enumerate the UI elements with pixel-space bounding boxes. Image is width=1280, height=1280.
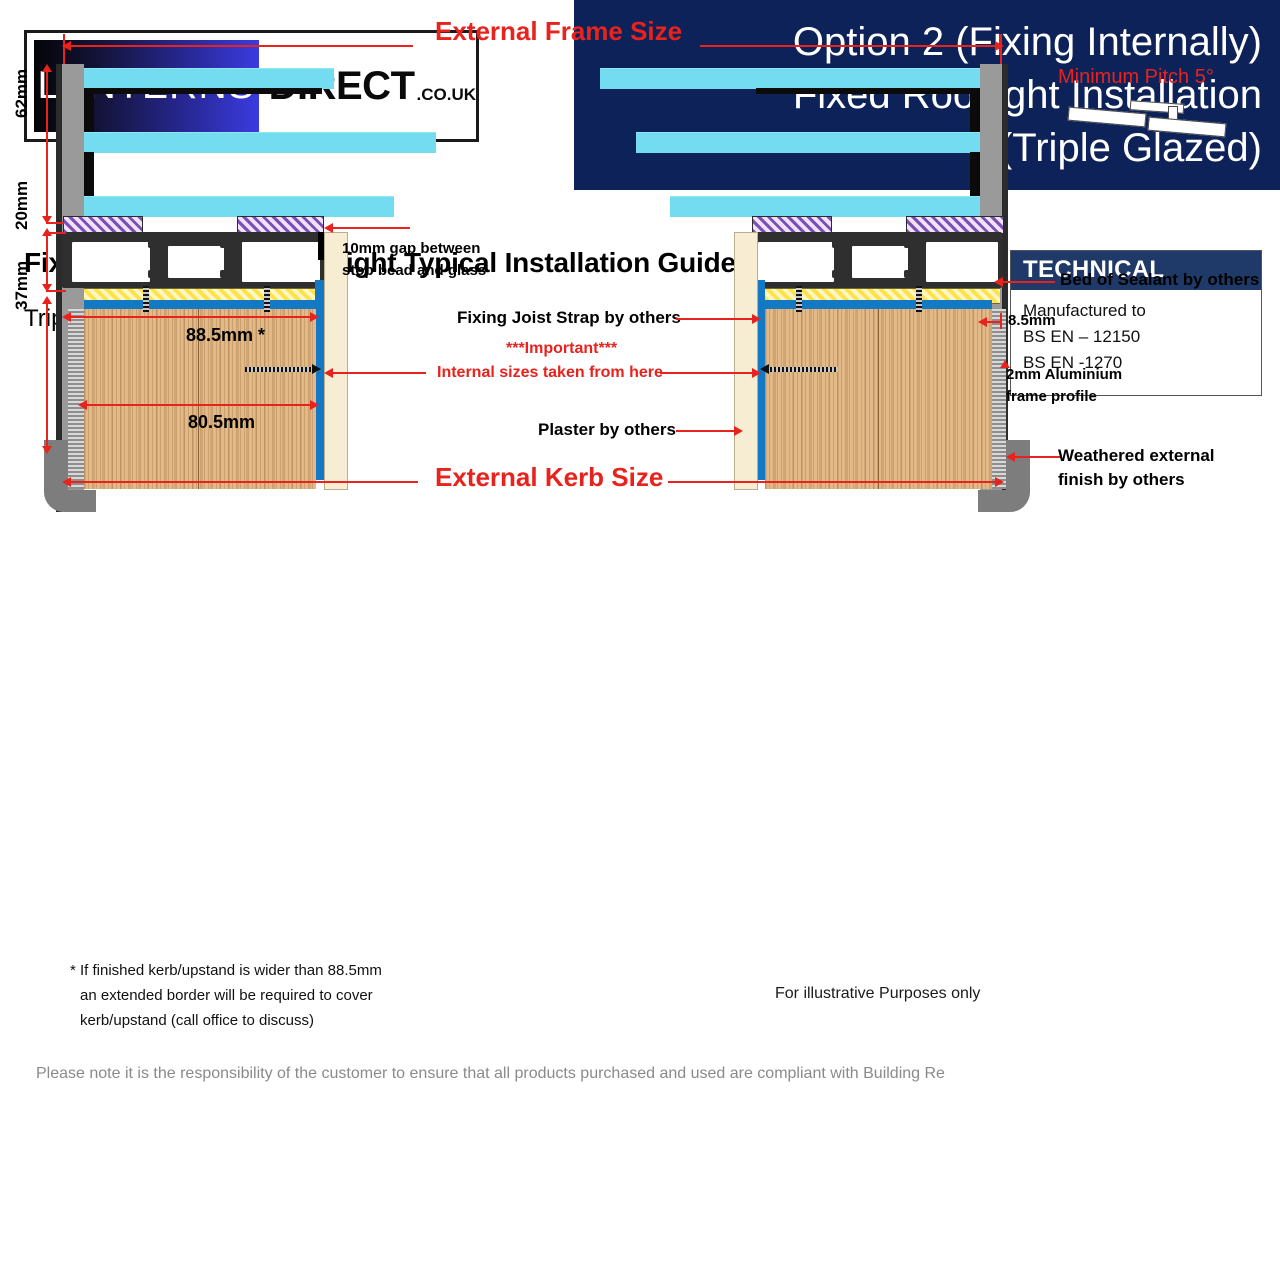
alu-chamber-inner-left	[240, 240, 322, 284]
installation-cross-section-diagram: External Frame Size	[0, 0, 1280, 560]
pitch-angle-icon	[1060, 100, 1220, 140]
dim-805-label: 80.5mm	[188, 412, 255, 433]
joist-strap-screw-tip-left	[312, 364, 321, 374]
glass-spacer-lower-right	[970, 152, 980, 196]
kerb-dim-line-left	[68, 481, 418, 483]
glass-pane-outer-left	[84, 68, 334, 89]
callout-sealant-arrow	[994, 277, 1003, 287]
callout-important-leader-left	[330, 372, 426, 374]
glass-top-seal-right	[756, 88, 980, 94]
dim-62-arrow-top	[42, 64, 52, 72]
thermal-break-lower-right-l	[220, 270, 242, 278]
glass-spacer-lower-left	[84, 152, 94, 196]
callout-important-arrow-left	[324, 368, 333, 378]
alu-chamber-centre-right	[850, 244, 910, 280]
fixing-screw-left-a	[143, 286, 149, 312]
kerb-footnote: * If finished kerb/upstand is wider than…	[70, 958, 382, 1033]
callout-sealant-label: Bed of Sealant by others	[1060, 270, 1259, 290]
callout-gap-leader	[330, 227, 410, 229]
kerb-footnote-line-2: an extended border will be required to c…	[70, 983, 382, 1008]
callout-joist-strap-leader	[676, 318, 756, 320]
glass-pane-middle-left	[84, 132, 436, 153]
callout-weathered-line1: Weathered external	[1058, 446, 1215, 466]
callout-important-line2: Internal sizes taken from here	[437, 364, 663, 382]
dim-37-arrow-top	[42, 296, 52, 304]
callout-85-tick	[1000, 313, 1002, 329]
fixing-screw-right-a	[796, 286, 802, 312]
dim-805-line	[84, 404, 316, 406]
callout-important-leader-right	[660, 372, 756, 374]
frame-dim-line-right	[700, 45, 1000, 47]
dim-37-line	[46, 300, 48, 452]
alu-chamber-outer-right	[924, 240, 1000, 284]
timber-kerb-joint-right	[878, 309, 879, 489]
callout-plaster-label: Plaster by others	[538, 420, 676, 440]
thermal-break-upper-right-r	[904, 240, 926, 248]
dim-885-arrow-right	[310, 312, 319, 322]
membrane-horizontal-left	[84, 300, 324, 309]
membrane-horizontal-right	[756, 300, 992, 309]
dim-885-label: 88.5mm *	[186, 325, 265, 346]
callout-weathered-leader	[1012, 456, 1060, 458]
callout-gap-line2: stop bead and glass	[342, 262, 486, 279]
callout-plaster-leader	[676, 430, 738, 432]
dim-37-label: 37mm	[12, 230, 32, 310]
callout-important-line1: ***Important***	[506, 340, 617, 358]
kerb-footnote-line-1: * If finished kerb/upstand is wider than…	[70, 958, 382, 983]
callout-85-label: 8.5mm	[1008, 312, 1056, 329]
external-frame-size-label: External Frame Size	[435, 16, 682, 47]
pitch-bar-lower-right	[1148, 117, 1227, 138]
dim-62-line	[46, 68, 48, 222]
callout-85-arrow	[978, 317, 987, 327]
glass-pane-middle-right	[636, 132, 980, 153]
dim-62-tick-bottom	[46, 222, 64, 224]
kerb-footnote-line-3: kerb/upstand (call office to discuss)	[70, 1008, 382, 1033]
frame-dim-arrow-right	[995, 41, 1004, 51]
dim-20-tick-top	[46, 232, 66, 234]
kerb-dim-line-right	[668, 481, 1000, 483]
glass-pane-outer-right	[600, 68, 980, 89]
callout-sealant-leader	[1000, 281, 1055, 283]
frame-dim-line-left	[68, 45, 413, 47]
weathering-grit-right	[992, 309, 1006, 489]
dim-805-arrow-right	[310, 400, 319, 410]
glass-pane-inner-left	[84, 196, 394, 217]
callout-gap-arrow	[324, 223, 333, 233]
thermal-break-lower-right-r	[904, 270, 926, 278]
thermal-break-upper-left-r	[832, 240, 852, 248]
glass-spacer-upper-left	[84, 88, 94, 132]
glass-spacer-upper-right	[970, 88, 980, 132]
thermal-break-upper-right-l	[220, 240, 242, 248]
callout-weathered-arrow	[1006, 452, 1015, 462]
callout-alu-line2: frame profile	[1006, 388, 1097, 405]
callout-gap-line1: 10mm gap between	[342, 240, 480, 257]
callout-plaster-arrow	[734, 426, 743, 436]
dim-37-arrow-bottom	[42, 446, 52, 454]
fixing-screw-right-b	[916, 286, 922, 312]
joist-strap-screw-tip-right	[760, 364, 769, 374]
kerb-dim-arrow-left	[62, 477, 71, 487]
alu-chamber-centre-left	[166, 244, 226, 280]
callout-joist-strap-label: Fixing Joist Strap by others	[457, 308, 681, 328]
weathered-finish-foot-left	[44, 490, 96, 512]
dim-20-label: 20mm	[12, 160, 32, 230]
plaster-board-right	[734, 232, 758, 490]
illustrative-note: For illustrative Purposes only	[775, 985, 980, 1003]
dim-20-line	[46, 232, 48, 290]
callout-important-arrow-right	[752, 368, 761, 378]
compliance-disclaimer: Please note it is the responsibility of …	[36, 1065, 945, 1083]
dim-885-line	[68, 316, 316, 318]
fixing-screw-left-b	[264, 286, 270, 312]
joist-strap-screw-left	[245, 367, 317, 372]
dim-805-arrow-left	[78, 400, 87, 410]
weathered-finish-foot-right	[978, 490, 1030, 512]
dim-885-arrow-left	[62, 312, 71, 322]
glass-pane-inner-right	[670, 196, 980, 217]
callout-weathered-line2: finish by others	[1058, 470, 1185, 490]
alu-chamber-inner-right	[756, 240, 836, 284]
alu-chamber-outer-left	[70, 240, 152, 284]
membrane-vertical-left	[315, 280, 324, 480]
dim-62-label: 62mm	[12, 28, 32, 118]
minimum-pitch-label: Minimum Pitch 5°	[1058, 66, 1214, 89]
thermal-break-lower-left	[148, 270, 168, 278]
glass-top-seal-left	[84, 88, 322, 94]
external-kerb-size-label: External Kerb Size	[435, 462, 663, 493]
callout-joist-strap-arrow	[752, 314, 761, 324]
thermal-break-lower-left-r	[832, 270, 852, 278]
joist-strap-screw-right	[766, 367, 838, 372]
thermal-break-upper-left	[148, 240, 168, 248]
dim-20-tick-bottom	[46, 290, 66, 292]
weathering-grit-left	[68, 309, 84, 489]
kerb-dim-arrow-right	[995, 477, 1004, 487]
frame-dim-arrow-left	[62, 41, 71, 51]
callout-alu-line1: 2mm Aluminium	[1006, 366, 1122, 383]
